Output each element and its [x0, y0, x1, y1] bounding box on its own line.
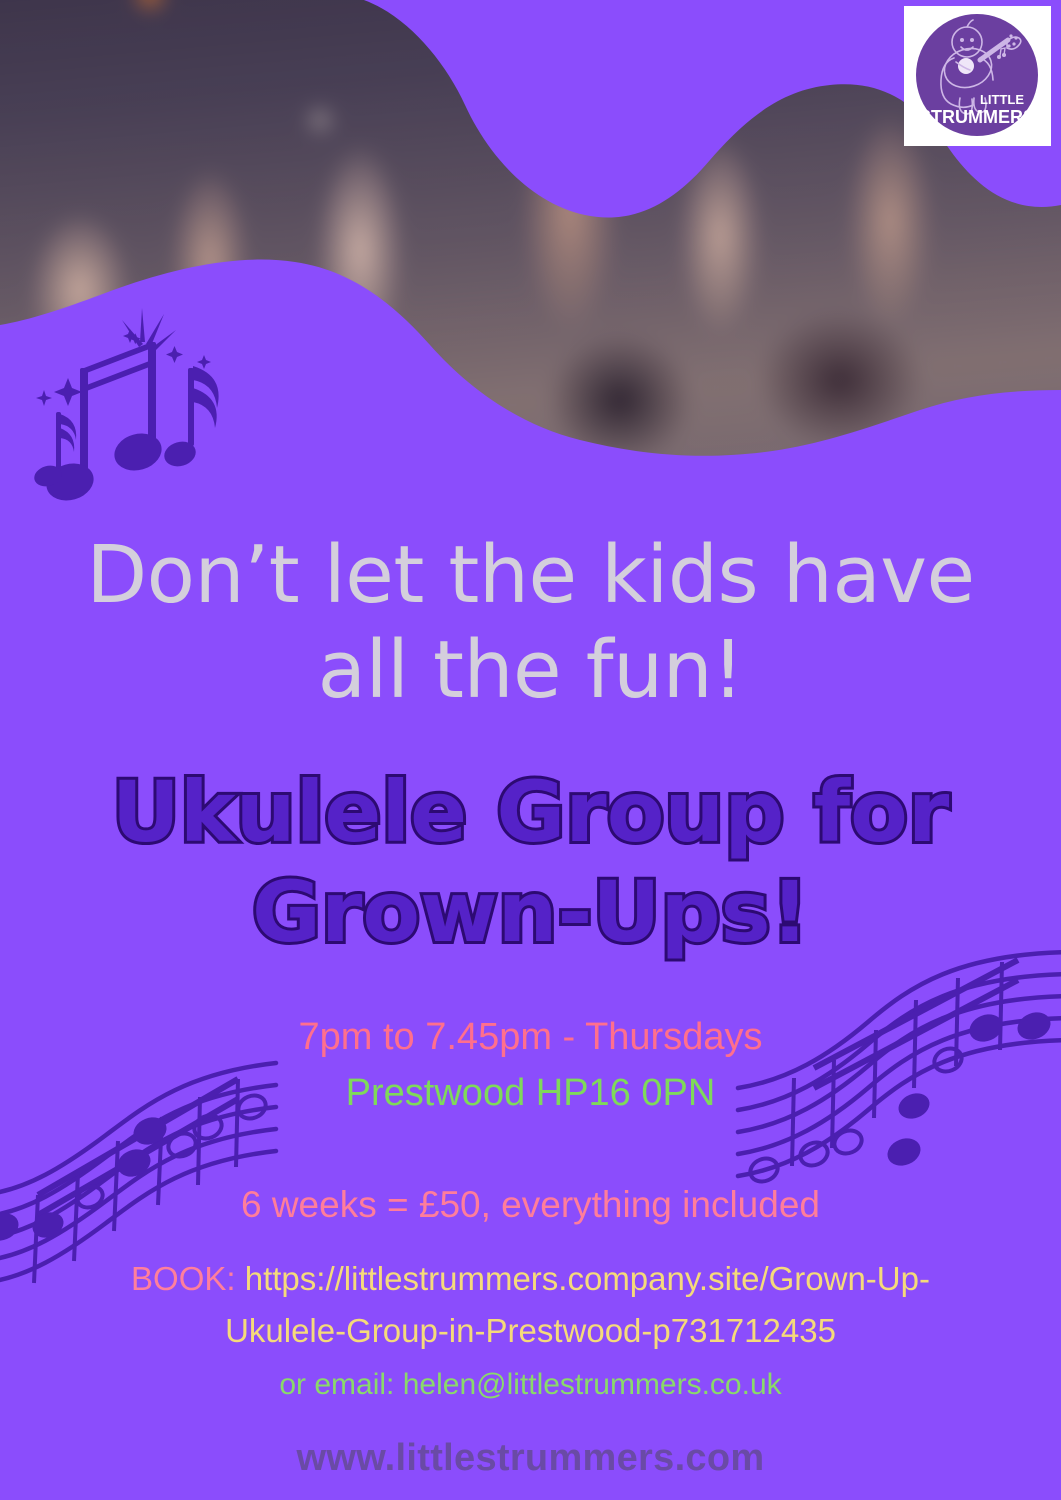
headline-line-2: all the fun!	[0, 623, 1061, 718]
website-url[interactable]: www.littlestrummers.com	[0, 1437, 1061, 1480]
poster-canvas: LITTLE STRUMMERS	[0, 0, 1061, 1500]
booking-url-link[interactable]: https://littlestrummers.company.site/Gro…	[225, 1260, 930, 1349]
session-location: Prestwood HP16 0PN	[0, 1068, 1061, 1118]
session-price: 6 weeks = £50, everything included	[0, 1180, 1061, 1230]
booking-label: BOOK:	[131, 1260, 236, 1297]
headline-line-1: Don’t let the kids have	[0, 528, 1061, 623]
contact-email-line[interactable]: or email: helen@littlestrummers.co.uk	[0, 1368, 1061, 1402]
poster-text-content: Don’t let the kids have all the fun! Uku…	[0, 0, 1061, 1500]
session-time: 7pm to 7.45pm - Thursdays	[0, 1012, 1061, 1062]
title-line-1: Ukulele Group for	[0, 762, 1061, 862]
booking-block: BOOK: https://littlestrummers.company.si…	[110, 1253, 951, 1357]
title-line-2: Grown-Ups!	[0, 862, 1061, 962]
